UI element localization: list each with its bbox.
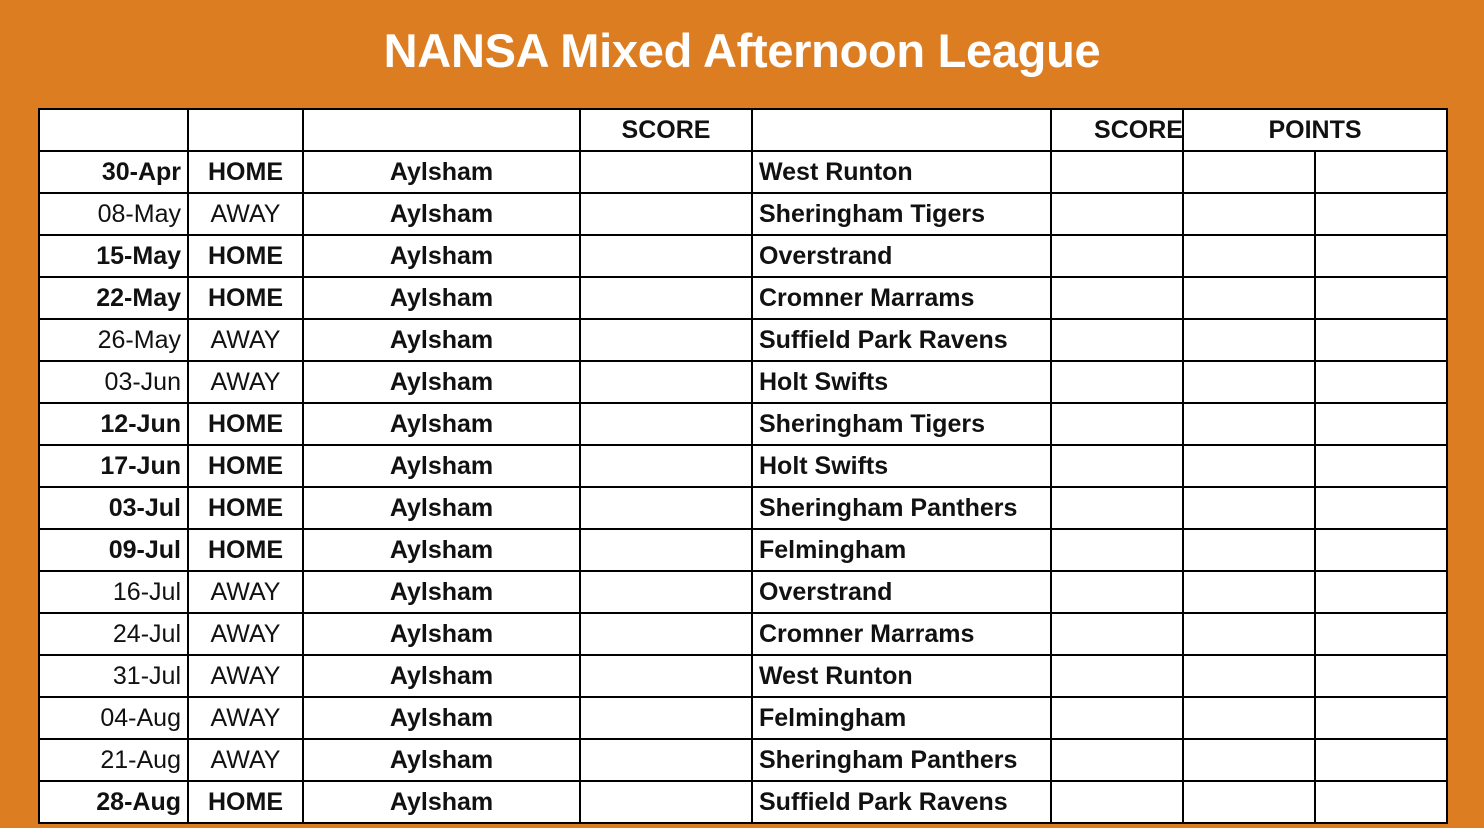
points-cell-left[interactable] bbox=[1183, 361, 1315, 403]
table-row: 24-JulAWAYAylshamCromner Marrams bbox=[39, 613, 1226, 655]
points-row bbox=[1183, 739, 1447, 781]
fixtures-table: SCORE SCORE 30-AprHOMEAylshamWest Runton… bbox=[38, 108, 1227, 824]
cell-team: Aylsham bbox=[303, 655, 580, 697]
cell-date: 24-Jul bbox=[39, 613, 188, 655]
cell-score-home[interactable] bbox=[580, 361, 752, 403]
points-row bbox=[1183, 277, 1447, 319]
points-cell-left[interactable] bbox=[1183, 613, 1315, 655]
points-cell-right[interactable] bbox=[1315, 235, 1447, 277]
cell-score-home[interactable] bbox=[580, 487, 752, 529]
cell-team: Aylsham bbox=[303, 151, 580, 193]
points-row bbox=[1183, 193, 1447, 235]
points-row bbox=[1183, 445, 1447, 487]
table-row: 22-MayHOMEAylshamCromner Marrams bbox=[39, 277, 1226, 319]
points-cell-left[interactable] bbox=[1183, 739, 1315, 781]
table-row: 09-JulHOMEAylshamFelmingham bbox=[39, 529, 1226, 571]
cell-opponent: West Runton bbox=[752, 151, 1051, 193]
table-row: 16-JulAWAYAylshamOverstrand bbox=[39, 571, 1226, 613]
cell-venue: AWAY bbox=[188, 613, 303, 655]
cell-score-home[interactable] bbox=[580, 613, 752, 655]
points-row bbox=[1183, 151, 1447, 193]
cell-score-home[interactable] bbox=[580, 655, 752, 697]
points-row bbox=[1183, 235, 1447, 277]
cell-team: Aylsham bbox=[303, 193, 580, 235]
cell-opponent: Overstrand bbox=[752, 571, 1051, 613]
cell-team: Aylsham bbox=[303, 361, 580, 403]
points-cell-right[interactable] bbox=[1315, 361, 1447, 403]
cell-opponent: Cromner Marrams bbox=[752, 277, 1051, 319]
cell-opponent: Suffield Park Ravens bbox=[752, 781, 1051, 823]
points-cell-left[interactable] bbox=[1183, 151, 1315, 193]
cell-date: 15-May bbox=[39, 235, 188, 277]
cell-venue: HOME bbox=[188, 487, 303, 529]
cell-score-home[interactable] bbox=[580, 781, 752, 823]
points-table: POINTS bbox=[1182, 108, 1448, 824]
points-row bbox=[1183, 655, 1447, 697]
points-cell-right[interactable] bbox=[1315, 445, 1447, 487]
cell-score-home[interactable] bbox=[580, 571, 752, 613]
cell-date: 12-Jun bbox=[39, 403, 188, 445]
cell-date: 08-May bbox=[39, 193, 188, 235]
points-row bbox=[1183, 781, 1447, 823]
points-cell-right[interactable] bbox=[1315, 739, 1447, 781]
cell-venue: AWAY bbox=[188, 319, 303, 361]
cell-venue: HOME bbox=[188, 151, 303, 193]
cell-team: Aylsham bbox=[303, 235, 580, 277]
cell-opponent: Sheringham Panthers bbox=[752, 739, 1051, 781]
cell-opponent: Sheringham Tigers bbox=[752, 193, 1051, 235]
cell-date: 17-Jun bbox=[39, 445, 188, 487]
points-cell-left[interactable] bbox=[1183, 277, 1315, 319]
header-date bbox=[39, 109, 188, 151]
points-cell-left[interactable] bbox=[1183, 235, 1315, 277]
points-row bbox=[1183, 613, 1447, 655]
cell-opponent: Overstrand bbox=[752, 235, 1051, 277]
table-row: 21-AugAWAYAylshamSheringham Panthers bbox=[39, 739, 1226, 781]
cell-team: Aylsham bbox=[303, 781, 580, 823]
points-row bbox=[1183, 697, 1447, 739]
points-cell-right[interactable] bbox=[1315, 781, 1447, 823]
cell-date: 03-Jun bbox=[39, 361, 188, 403]
points-cell-left[interactable] bbox=[1183, 655, 1315, 697]
cell-score-home[interactable] bbox=[580, 529, 752, 571]
points-cell-left[interactable] bbox=[1183, 319, 1315, 361]
cell-team: Aylsham bbox=[303, 487, 580, 529]
table-row: 04-AugAWAYAylshamFelmingham bbox=[39, 697, 1226, 739]
cell-venue: AWAY bbox=[188, 571, 303, 613]
cell-team: Aylsham bbox=[303, 613, 580, 655]
cell-opponent: Sheringham Tigers bbox=[752, 403, 1051, 445]
cell-team: Aylsham bbox=[303, 445, 580, 487]
cell-date: 21-Aug bbox=[39, 739, 188, 781]
cell-venue: HOME bbox=[188, 529, 303, 571]
cell-venue: HOME bbox=[188, 445, 303, 487]
points-cell-left[interactable] bbox=[1183, 781, 1315, 823]
points-cell-left[interactable] bbox=[1183, 697, 1315, 739]
cell-venue: HOME bbox=[188, 235, 303, 277]
cell-score-home[interactable] bbox=[580, 151, 752, 193]
cell-date: 26-May bbox=[39, 319, 188, 361]
table-row: 08-MayAWAYAylshamSheringham Tigers bbox=[39, 193, 1226, 235]
points-cell-left[interactable] bbox=[1183, 487, 1315, 529]
cell-opponent: Sheringham Panthers bbox=[752, 487, 1051, 529]
points-cell-left[interactable] bbox=[1183, 193, 1315, 235]
cell-score-home[interactable] bbox=[580, 445, 752, 487]
points-cell-right[interactable] bbox=[1315, 571, 1447, 613]
cell-opponent: Felmingham bbox=[752, 697, 1051, 739]
cell-date: 04-Aug bbox=[39, 697, 188, 739]
table-row: 17-JunHOMEAylshamHolt Swifts bbox=[39, 445, 1226, 487]
cell-venue: AWAY bbox=[188, 655, 303, 697]
cell-date: 03-Jul bbox=[39, 487, 188, 529]
points-header-row: POINTS bbox=[1183, 109, 1447, 151]
cell-date: 22-May bbox=[39, 277, 188, 319]
points-row bbox=[1183, 403, 1447, 445]
points-cell-left[interactable] bbox=[1183, 571, 1315, 613]
cell-team: Aylsham bbox=[303, 571, 580, 613]
cell-venue: AWAY bbox=[188, 361, 303, 403]
cell-team: Aylsham bbox=[303, 319, 580, 361]
points-cell-right[interactable] bbox=[1315, 529, 1447, 571]
table-row: 28-AugHOMEAylshamSuffield Park Ravens bbox=[39, 781, 1226, 823]
table-row: 15-MayHOMEAylshamOverstrand bbox=[39, 235, 1226, 277]
points-row bbox=[1183, 319, 1447, 361]
fixtures-header-row: SCORE SCORE bbox=[39, 109, 1226, 151]
cell-score-home[interactable] bbox=[580, 697, 752, 739]
cell-venue: HOME bbox=[188, 781, 303, 823]
cell-opponent: Holt Swifts bbox=[752, 445, 1051, 487]
table-row: 30-AprHOMEAylshamWest Runton bbox=[39, 151, 1226, 193]
header-score-home: SCORE bbox=[580, 109, 752, 151]
points-header: POINTS bbox=[1183, 109, 1447, 151]
cell-score-home[interactable] bbox=[580, 319, 752, 361]
cell-score-home[interactable] bbox=[580, 235, 752, 277]
table-row: 03-JunAWAYAylshamHolt Swifts bbox=[39, 361, 1226, 403]
cell-opponent: Cromner Marrams bbox=[752, 613, 1051, 655]
points-cell-right[interactable] bbox=[1315, 697, 1447, 739]
points-cell-right[interactable] bbox=[1315, 613, 1447, 655]
page-title: NANSA Mixed Afternoon League bbox=[0, 22, 1484, 80]
cell-venue: AWAY bbox=[188, 739, 303, 781]
table-row: 26-MayAWAYAylshamSuffield Park Ravens bbox=[39, 319, 1226, 361]
cell-team: Aylsham bbox=[303, 739, 580, 781]
cell-team: Aylsham bbox=[303, 403, 580, 445]
points-cell-right[interactable] bbox=[1315, 487, 1447, 529]
points-row bbox=[1183, 529, 1447, 571]
points-cell-right[interactable] bbox=[1315, 403, 1447, 445]
header-venue bbox=[188, 109, 303, 151]
points-cell-left[interactable] bbox=[1183, 403, 1315, 445]
cell-score-home[interactable] bbox=[580, 277, 752, 319]
table-row: 03-JulHOMEAylshamSheringham Panthers bbox=[39, 487, 1226, 529]
cell-score-home[interactable] bbox=[580, 403, 752, 445]
cell-score-home[interactable] bbox=[580, 193, 752, 235]
points-row bbox=[1183, 361, 1447, 403]
cell-team: Aylsham bbox=[303, 697, 580, 739]
points-cell-right[interactable] bbox=[1315, 151, 1447, 193]
cell-date: 09-Jul bbox=[39, 529, 188, 571]
cell-opponent: Holt Swifts bbox=[752, 361, 1051, 403]
cell-date: 16-Jul bbox=[39, 571, 188, 613]
cell-date: 31-Jul bbox=[39, 655, 188, 697]
cell-venue: HOME bbox=[188, 277, 303, 319]
cell-opponent: Felmingham bbox=[752, 529, 1051, 571]
cell-venue: AWAY bbox=[188, 193, 303, 235]
cell-date: 28-Aug bbox=[39, 781, 188, 823]
points-cell-left[interactable] bbox=[1183, 529, 1315, 571]
table-row: 31-JulAWAYAylshamWest Runton bbox=[39, 655, 1226, 697]
cell-score-home[interactable] bbox=[580, 739, 752, 781]
cell-venue: AWAY bbox=[188, 697, 303, 739]
cell-team: Aylsham bbox=[303, 277, 580, 319]
points-cell-right[interactable] bbox=[1315, 193, 1447, 235]
points-table-body: POINTS bbox=[1183, 109, 1447, 823]
points-row bbox=[1183, 487, 1447, 529]
cell-opponent: West Runton bbox=[752, 655, 1051, 697]
header-opponent bbox=[752, 109, 1051, 151]
points-cell-left[interactable] bbox=[1183, 445, 1315, 487]
points-cell-right[interactable] bbox=[1315, 319, 1447, 361]
points-row bbox=[1183, 571, 1447, 613]
points-cell-right[interactable] bbox=[1315, 655, 1447, 697]
cell-team: Aylsham bbox=[303, 529, 580, 571]
fixtures-table-body: SCORE SCORE 30-AprHOMEAylshamWest Runton… bbox=[39, 109, 1226, 823]
cell-date: 30-Apr bbox=[39, 151, 188, 193]
points-cell-right[interactable] bbox=[1315, 277, 1447, 319]
header-team bbox=[303, 109, 580, 151]
table-row: 12-JunHOMEAylshamSheringham Tigers bbox=[39, 403, 1226, 445]
cell-opponent: Suffield Park Ravens bbox=[752, 319, 1051, 361]
cell-venue: HOME bbox=[188, 403, 303, 445]
